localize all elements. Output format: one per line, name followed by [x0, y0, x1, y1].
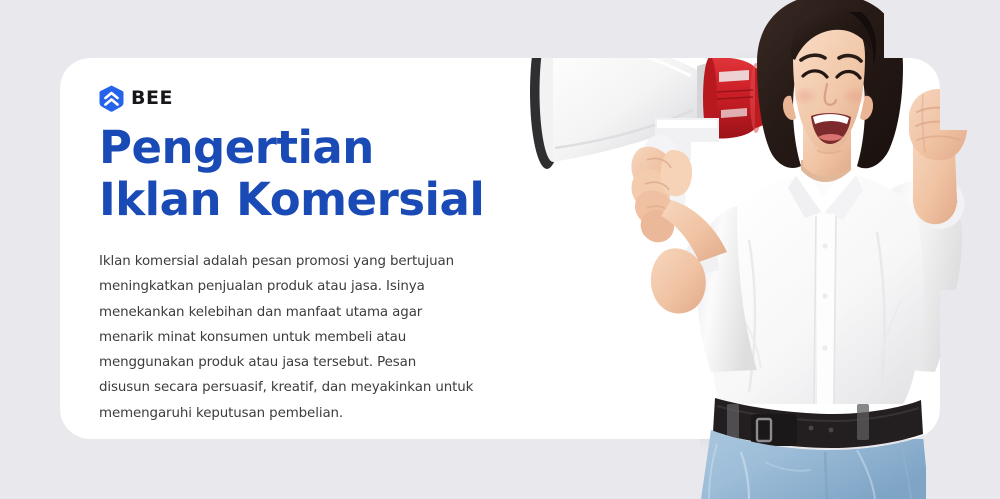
background-mask-right-lower: [940, 290, 1000, 499]
page-title: Pengertian Iklan Komersial: [99, 122, 569, 226]
body-line-4: menarik minat konsumen untuk membeli ata…: [99, 325, 481, 350]
background-mask-top-left: [0, 0, 735, 58]
bee-logo-icon: [99, 85, 124, 112]
slide-canvas: BEE Pengertian Iklan Komersial Iklan kom…: [0, 0, 1000, 499]
brand-wordmark: BEE: [131, 89, 173, 108]
background-mask-bottom-right: [926, 439, 1000, 499]
background-mask-left: [0, 0, 60, 499]
body-line-2: meningkatkan penjualan produk atau jasa.…: [99, 274, 481, 299]
body-line-1: Iklan komersial adalah pesan promosi yan…: [99, 249, 481, 274]
body-line-7: memengaruhi keputusan pembelian.: [99, 401, 481, 426]
brand-lockup[interactable]: BEE: [99, 85, 173, 112]
background-mask-top-right: [884, 0, 1000, 58]
headline-line-1: Pengertian: [99, 122, 569, 174]
body-paragraph: Iklan komersial adalah pesan promosi yan…: [99, 249, 481, 426]
body-line-6: disusun secara persuasif, kreatif, dan m…: [99, 375, 481, 400]
background-mask-bottom-left: [0, 439, 700, 499]
body-line-3: menekankan kelebihan dan manfaat utama a…: [99, 300, 481, 325]
background-mask-right-upper: [940, 0, 1000, 130]
headline-line-2: Iklan Komersial: [99, 174, 569, 226]
body-line-5: menggunakan produk atau jasa tersebut. P…: [99, 350, 481, 375]
